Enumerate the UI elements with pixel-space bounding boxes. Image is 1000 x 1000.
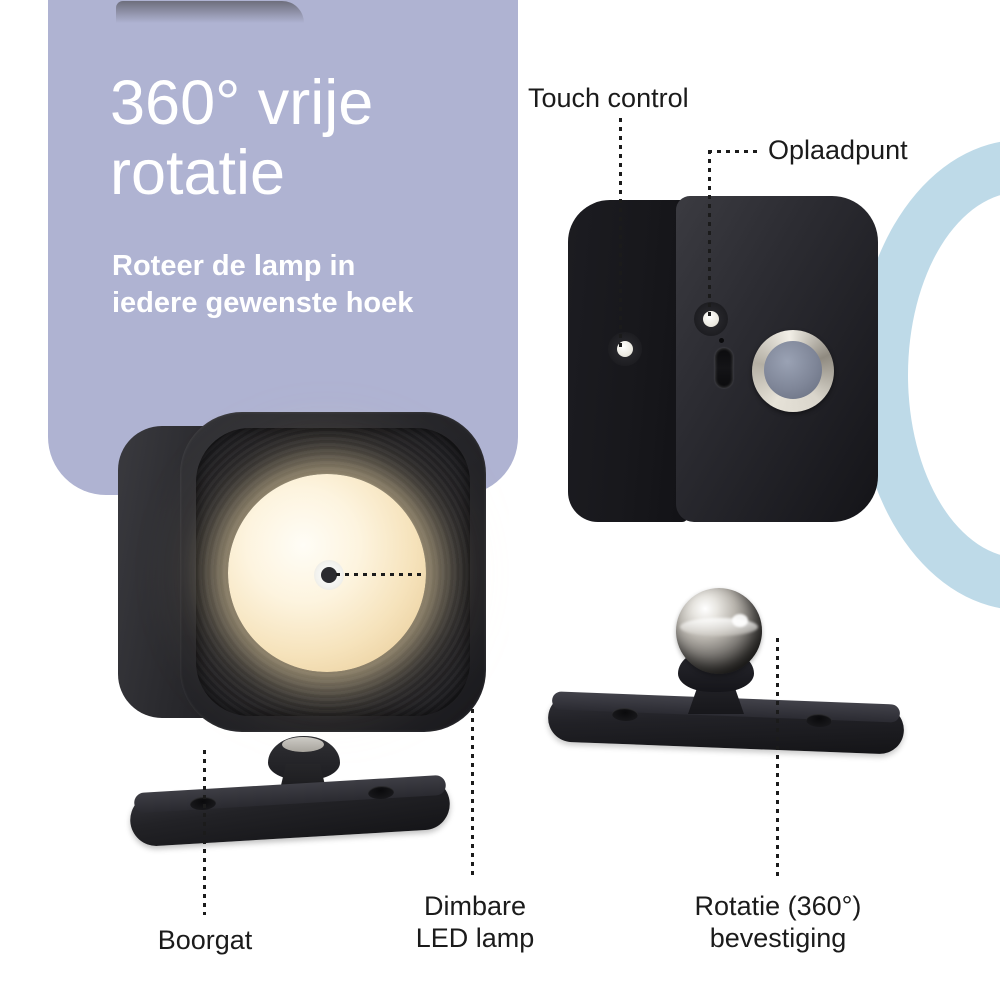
callout-label-boorgat: Boorgat: [145, 924, 265, 956]
callout-label-touch-control: Touch control: [528, 82, 689, 114]
usb-charging-port: [715, 348, 733, 388]
leader-line-led-horizontal: [336, 573, 422, 576]
page-title: 360° vrije rotatie: [110, 68, 510, 208]
leader-line-boorgat: [203, 750, 206, 915]
touch-control-indicator: [608, 332, 642, 366]
callout-label-dimbare-led-lamp: Dimbare LED lamp: [395, 890, 555, 954]
leader-line-dimbare-led: [471, 700, 474, 878]
leader-line-oplaadpunt-vertical: [708, 150, 711, 318]
ball-socket-inner: [764, 341, 822, 399]
rear-top-highlight: [116, 1, 304, 23]
page-subtitle: Roteer de lamp in iedere gewenste hoek: [112, 248, 442, 322]
reset-pinhole-icon: [719, 338, 724, 343]
charging-indicator: [694, 302, 728, 336]
lamp-ball-joint-highlight: [282, 737, 324, 752]
callout-label-oplaadpunt: Oplaadpunt: [768, 134, 908, 166]
led-center-dot: [321, 567, 337, 583]
infographic-canvas: 360° vrije rotatie Roteer de lamp in ied…: [0, 0, 1000, 1000]
callout-label-rotatie-bevestiging: Rotatie (360°) bevestiging: [678, 890, 878, 954]
chrome-ball-highlight: [732, 614, 748, 627]
leader-line-rotatie: [776, 638, 779, 880]
leader-line-touch-control: [619, 118, 622, 350]
leader-line-oplaadpunt-horizontal: [708, 150, 762, 153]
